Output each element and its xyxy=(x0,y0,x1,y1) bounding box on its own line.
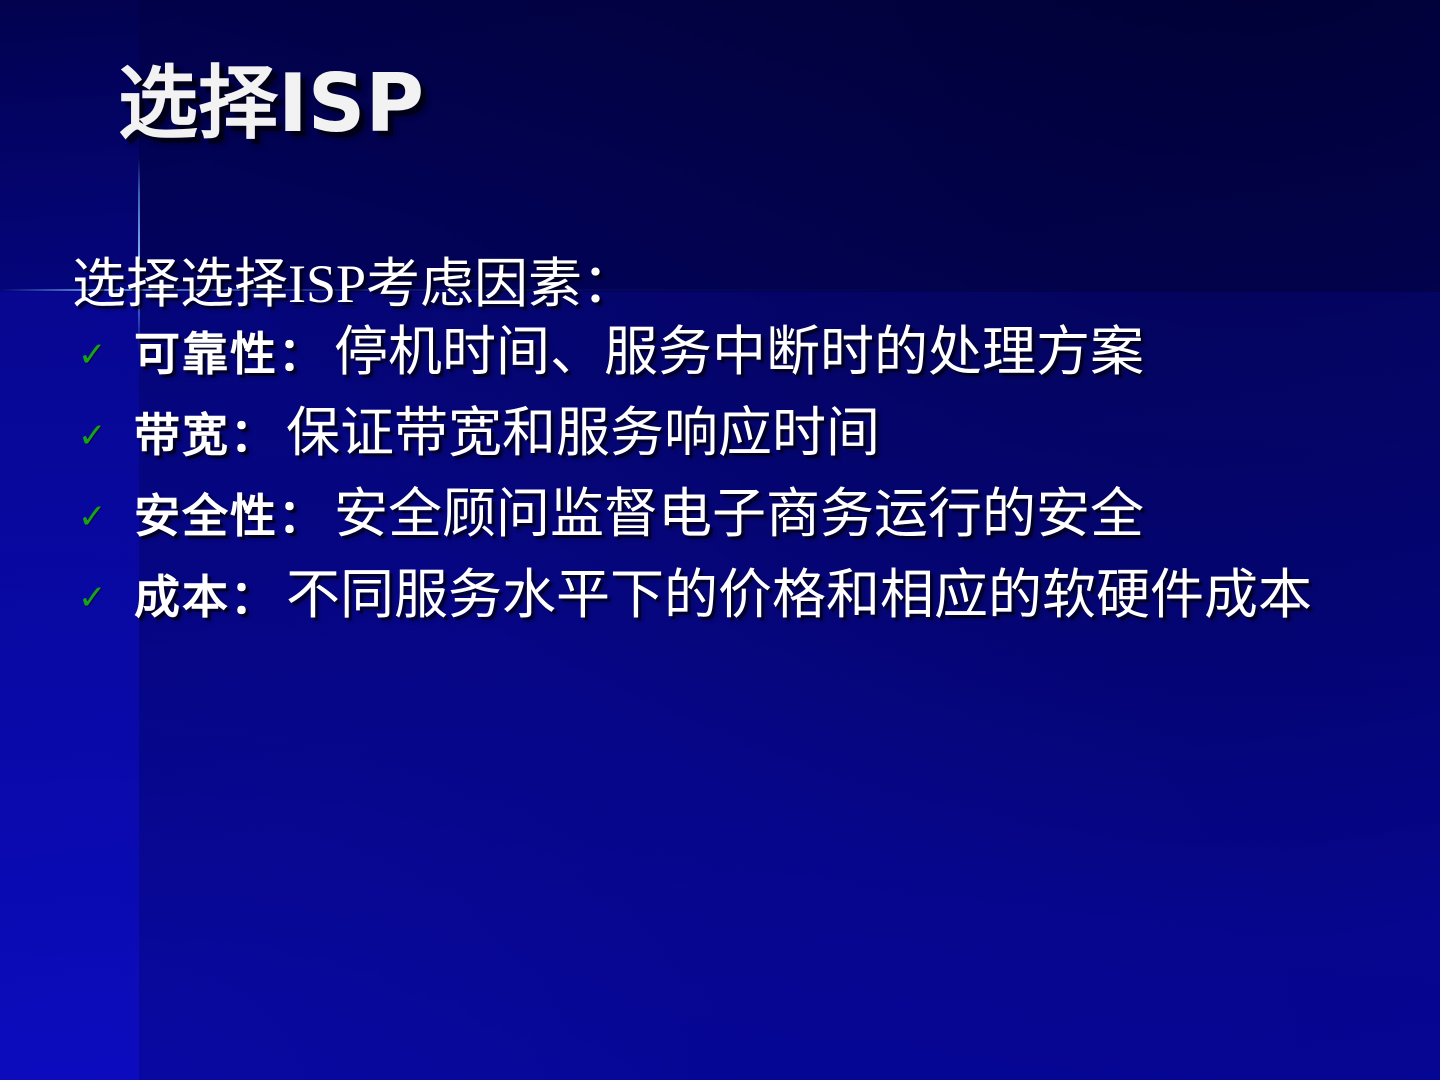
bullet-description: 不同服务水平下的价格和相应的软硬件成本 xyxy=(286,563,1312,627)
check-icon: ✓ xyxy=(72,581,134,615)
check-icon: ✓ xyxy=(72,338,134,372)
bullet-description: 停机时间、服务中断时的处理方案 xyxy=(334,320,1144,384)
bullet-term: 安全性 xyxy=(134,485,278,547)
bullet-item-cost: ✓ 成本 ： 不同服务水平下的价格和相应的软硬件成本 xyxy=(72,563,1422,644)
bullet-term: 可靠性 xyxy=(134,323,278,385)
slide-title: 选择ISP xyxy=(118,56,424,152)
slide-body: 选择选择ISP考虑因素： ✓ 可靠性 ： 停机时间、服务中断时的处理方案 ✓ 带… xyxy=(72,248,1422,644)
check-icon: ✓ xyxy=(72,500,134,534)
bullet-term: 成本 xyxy=(134,566,230,628)
bullet-list: ✓ 可靠性 ： 停机时间、服务中断时的处理方案 ✓ 带宽 ： 保证带宽和服务响应… xyxy=(72,320,1422,644)
bullet-separator: ： xyxy=(230,566,286,628)
bullet-description: 安全顾问监督电子商务运行的安全 xyxy=(334,482,1144,546)
bullet-separator: ： xyxy=(230,404,286,466)
bullet-separator: ： xyxy=(278,485,334,547)
check-icon: ✓ xyxy=(72,419,134,453)
slide-canvas: 选择ISP 选择选择ISP考虑因素： ✓ 可靠性 ： 停机时间、服务中断时的处理… xyxy=(0,0,1440,1080)
bullet-item-reliability: ✓ 可靠性 ： 停机时间、服务中断时的处理方案 xyxy=(72,320,1422,401)
body-lead-text: 选择选择ISP考虑因素： xyxy=(72,248,1422,320)
bullet-description: 保证带宽和服务响应时间 xyxy=(286,401,880,465)
bullet-item-security: ✓ 安全性 ： 安全顾问监督电子商务运行的安全 xyxy=(72,482,1422,563)
bullet-term: 带宽 xyxy=(134,404,230,466)
bullet-separator: ： xyxy=(278,323,334,385)
bullet-item-bandwidth: ✓ 带宽 ： 保证带宽和服务响应时间 xyxy=(72,401,1422,482)
